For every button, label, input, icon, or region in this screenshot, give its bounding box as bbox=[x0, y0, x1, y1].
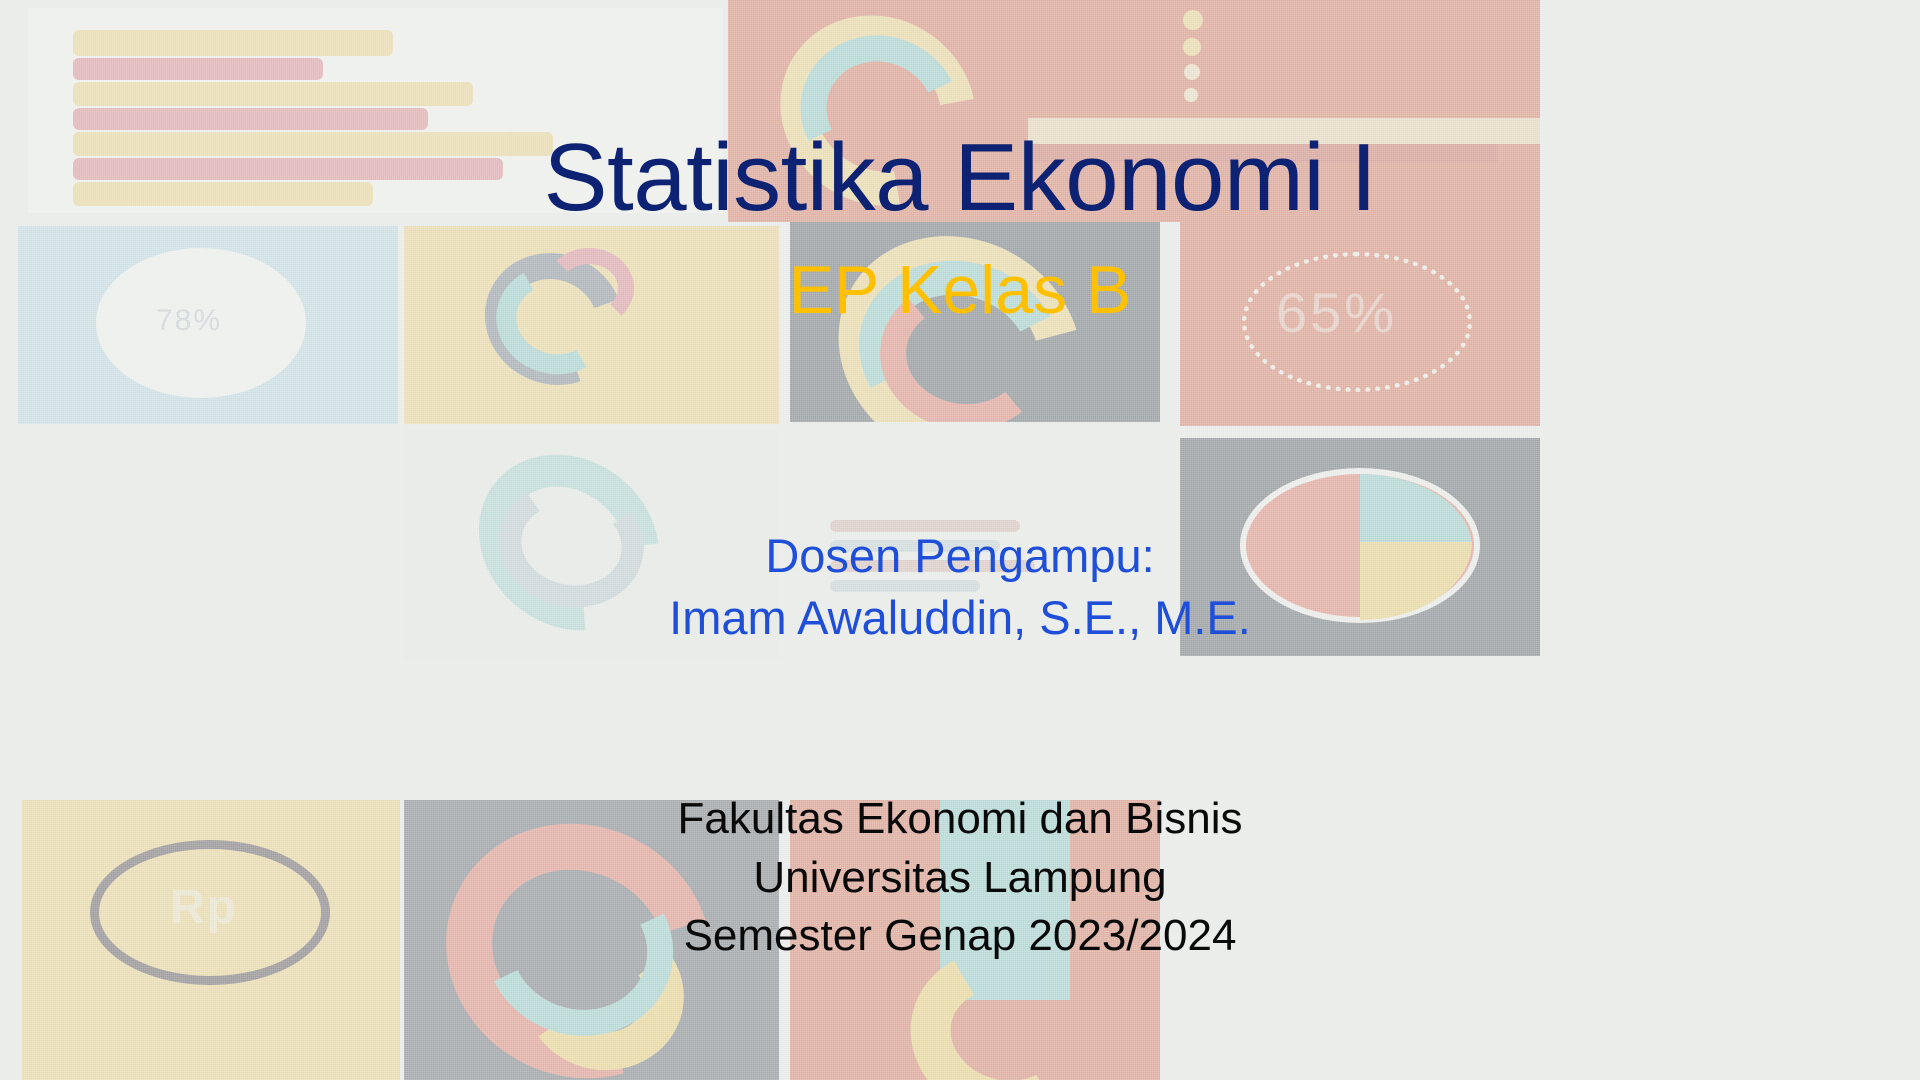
semester-label: Semester Genap 2023/2024 bbox=[0, 907, 1920, 966]
lecturer-name: Imam Awaluddin, S.E., M.E. bbox=[0, 587, 1920, 649]
presentation-slide: 78% 65% bbox=[0, 0, 1920, 1080]
slide-title: Statistika Ekonomi I bbox=[0, 128, 1920, 229]
slide-text-layer: Statistika Ekonomi I EP Kelas B Dosen Pe… bbox=[0, 0, 1920, 1080]
lecturer-label: Dosen Pengampu: bbox=[0, 525, 1920, 587]
university-name: Universitas Lampung bbox=[0, 849, 1920, 908]
lecturer-block: Dosen Pengampu: Imam Awaluddin, S.E., M.… bbox=[0, 525, 1920, 649]
affiliation-block: Fakultas Ekonomi dan Bisnis Universitas … bbox=[0, 790, 1920, 966]
faculty-name: Fakultas Ekonomi dan Bisnis bbox=[0, 790, 1920, 849]
slide-subtitle: EP Kelas B bbox=[0, 255, 1920, 326]
